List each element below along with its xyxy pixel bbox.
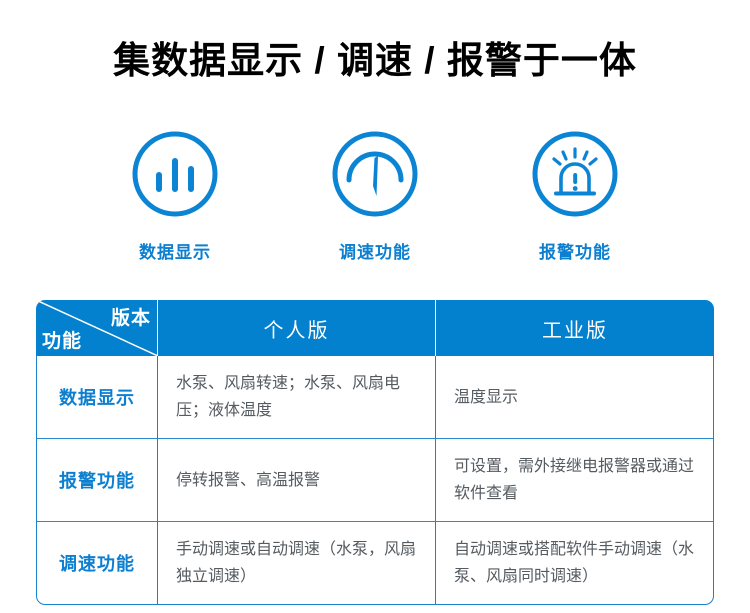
table-body: 数据显示 水泵、风扇转速；水泵、风扇电压；液体温度 温度显示 报警功能 停转报警…: [36, 356, 714, 605]
table-head: 版本 功能 个人版 工业版: [36, 300, 714, 356]
cell-industrial-speed-control: 自动调速或搭配软件手动调速（水泵、风扇同时调速）: [436, 522, 714, 605]
cell-personal-alarm: 停转报警、高温报警: [158, 439, 436, 522]
feature-label: 数据显示: [139, 238, 211, 263]
row-label-alarm: 报警功能: [36, 439, 158, 522]
promo-page: 集数据显示 / 调速 / 报警于一体 数据显示: [0, 0, 750, 613]
page-title: 集数据显示 / 调速 / 报警于一体: [0, 38, 750, 84]
column-header-industrial: 工业版: [436, 300, 714, 356]
feature-label: 报警功能: [539, 238, 611, 263]
cell-personal-data-display: 水泵、风扇转速；水泵、风扇电压；液体温度: [158, 356, 436, 439]
gauge-circle-icon: [329, 128, 421, 220]
feature-item-alarm: 报警功能: [475, 128, 675, 263]
cell-industrial-data-display: 温度显示: [436, 356, 714, 439]
corner-header-function-label: 功能: [42, 326, 82, 353]
alarm-siren-circle-icon: [529, 128, 621, 220]
row-label-data-display: 数据显示: [36, 356, 158, 439]
feature-item-speed-control: 调速功能: [275, 128, 475, 263]
comparison-table: 版本 功能 个人版 工业版 数据显示 水泵、风扇转速；水泵、风扇电压；液体温度 …: [36, 300, 714, 605]
row-label-speed-control: 调速功能: [36, 522, 158, 605]
feature-icons-row: 数据显示 调速功能: [75, 128, 675, 263]
feature-label: 调速功能: [339, 238, 411, 263]
column-header-personal: 个人版: [158, 300, 436, 356]
table-row: 调速功能 手动调速或自动调速（水泵，风扇独立调速） 自动调速或搭配软件手动调速（…: [36, 522, 714, 605]
corner-header-cell: 版本 功能: [36, 300, 158, 356]
bar-chart-circle-icon: [129, 128, 221, 220]
feature-item-data-display: 数据显示: [75, 128, 275, 263]
cell-industrial-alarm: 可设置，需外接继电报警器或通过软件查看: [436, 439, 714, 522]
table-header-row: 版本 功能 个人版 工业版: [36, 300, 714, 356]
table-row: 数据显示 水泵、风扇转速；水泵、风扇电压；液体温度 温度显示: [36, 356, 714, 439]
table-row: 报警功能 停转报警、高温报警 可设置，需外接继电报警器或通过软件查看: [36, 439, 714, 522]
corner-header-version-label: 版本: [111, 303, 151, 330]
comparison-table-wrapper: 版本 功能 个人版 工业版 数据显示 水泵、风扇转速；水泵、风扇电压；液体温度 …: [36, 300, 714, 605]
cell-personal-speed-control: 手动调速或自动调速（水泵，风扇独立调速）: [158, 522, 436, 605]
